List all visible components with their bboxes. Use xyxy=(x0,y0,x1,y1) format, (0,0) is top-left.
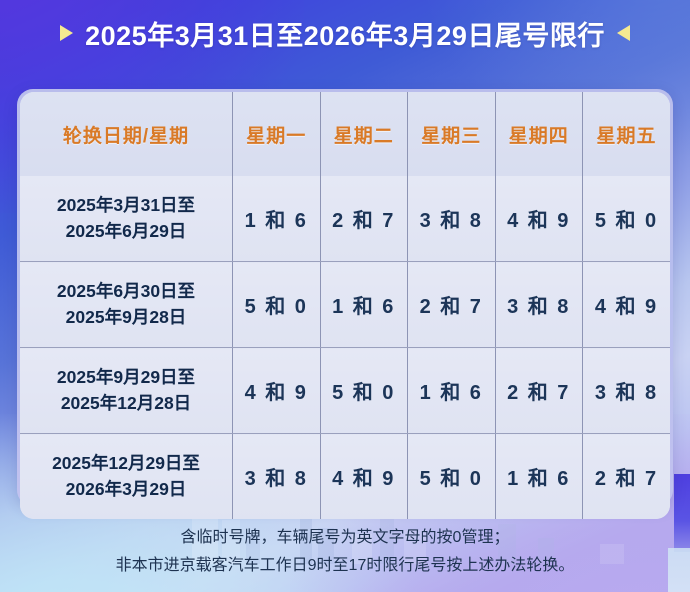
table-row: 2025年3月31日至 2025年6月29日 1 和 6 2 和 7 3 和 8… xyxy=(20,176,670,262)
triangle-right-icon xyxy=(60,25,73,41)
cell-wednesday: 2 和 7 xyxy=(408,262,496,348)
cell-thursday: 4 和 9 xyxy=(495,176,583,262)
cell-date-range: 2025年12月29日至 2026年3月29日 xyxy=(20,434,233,520)
cell-tuesday: 1 和 6 xyxy=(320,262,408,348)
date-range-line-2: 2025年9月28日 xyxy=(21,305,231,330)
cell-tuesday: 5 和 0 xyxy=(320,348,408,434)
date-range-line-2: 2025年12月28日 xyxy=(21,391,231,416)
cell-date-range: 2025年6月30日至 2025年9月28日 xyxy=(20,262,233,348)
triangle-left-icon xyxy=(617,25,630,41)
date-range-line-1: 2025年9月29日至 xyxy=(21,365,231,390)
cell-monday: 1 和 6 xyxy=(233,176,321,262)
cell-thursday: 2 和 7 xyxy=(495,348,583,434)
cell-date-range: 2025年3月31日至 2025年6月29日 xyxy=(20,176,233,262)
footer-notes: 含临时号牌，车辆尾号为英文字母的按0管理； 非本市进京载客汽车工作日9时至17时… xyxy=(0,524,690,580)
column-header-monday: 星期一 xyxy=(233,92,321,176)
column-header-thursday: 星期四 xyxy=(495,92,583,176)
cell-friday: 5 和 0 xyxy=(583,176,671,262)
cell-monday: 4 和 9 xyxy=(233,348,321,434)
table-row: 2025年9月29日至 2025年12月28日 4 和 9 5 和 0 1 和 … xyxy=(20,348,670,434)
column-header-wednesday: 星期三 xyxy=(408,92,496,176)
date-range-line-1: 2025年3月31日至 xyxy=(21,193,231,218)
cell-monday: 5 和 0 xyxy=(233,262,321,348)
cell-friday: 3 和 8 xyxy=(583,348,671,434)
table-row: 2025年6月30日至 2025年9月28日 5 和 0 1 和 6 2 和 7… xyxy=(20,262,670,348)
table-row: 2025年12月29日至 2026年3月29日 3 和 8 4 和 9 5 和 … xyxy=(20,434,670,520)
date-range-line-1: 2025年6月30日至 xyxy=(21,279,231,304)
cell-wednesday: 1 和 6 xyxy=(408,348,496,434)
footer-note-line-1: 含临时号牌，车辆尾号为英文字母的按0管理； xyxy=(0,524,690,552)
cell-wednesday: 3 和 8 xyxy=(408,176,496,262)
date-range-line-2: 2026年3月29日 xyxy=(21,477,231,502)
column-header-friday: 星期五 xyxy=(583,92,671,176)
page-title-text: 2025年3月31日至2026年3月29日尾号限行 xyxy=(85,14,605,53)
cell-thursday: 3 和 8 xyxy=(495,262,583,348)
infographic-root: 2025年3月31日至2026年3月29日尾号限行 轮换日期/星期 星期一 星期… xyxy=(0,0,690,592)
restriction-table: 轮换日期/星期 星期一 星期二 星期三 星期四 星期五 2025年3月31日至 … xyxy=(20,92,670,519)
cell-tuesday: 4 和 9 xyxy=(320,434,408,520)
cell-friday: 4 和 9 xyxy=(583,262,671,348)
cell-monday: 3 和 8 xyxy=(233,434,321,520)
date-range-line-2: 2025年6月29日 xyxy=(21,219,231,244)
date-range-line-1: 2025年12月29日至 xyxy=(21,451,231,476)
column-header-date: 轮换日期/星期 xyxy=(20,92,233,176)
cell-date-range: 2025年9月29日至 2025年12月28日 xyxy=(20,348,233,434)
table-header-row: 轮换日期/星期 星期一 星期二 星期三 星期四 星期五 xyxy=(20,92,670,176)
cell-tuesday: 2 和 7 xyxy=(320,176,408,262)
column-header-tuesday: 星期二 xyxy=(320,92,408,176)
footer-note-line-2: 非本市进京载客汽车工作日9时至17时限行尾号按上述办法轮换。 xyxy=(0,552,690,580)
cell-thursday: 1 和 6 xyxy=(495,434,583,520)
cell-wednesday: 5 和 0 xyxy=(408,434,496,520)
restriction-table-card: 轮换日期/星期 星期一 星期二 星期三 星期四 星期五 2025年3月31日至 … xyxy=(17,89,673,506)
page-title: 2025年3月31日至2026年3月29日尾号限行 xyxy=(0,12,690,54)
cell-friday: 2 和 7 xyxy=(583,434,671,520)
